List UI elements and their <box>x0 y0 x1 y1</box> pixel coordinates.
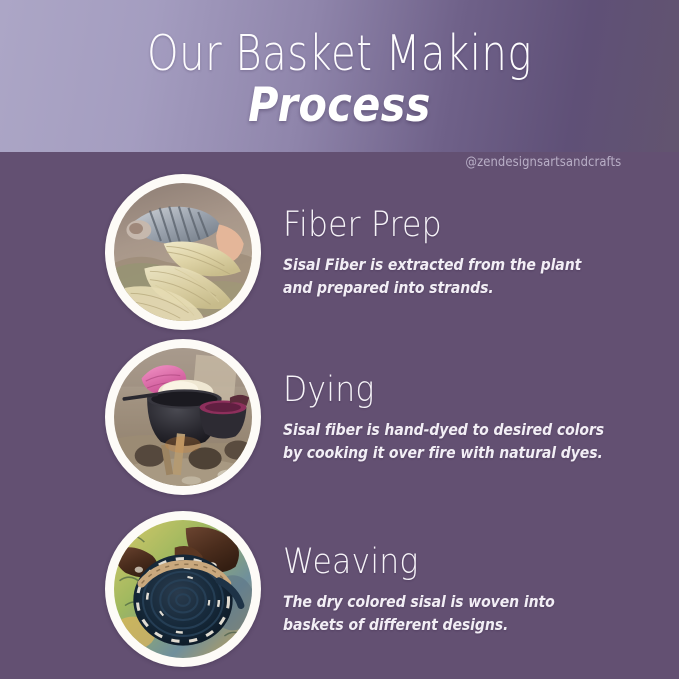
header-banner: Our Basket Making Process <box>0 0 679 152</box>
process-step-weaving: Weaving The dry colored sisal is woven i… <box>0 503 679 675</box>
step-text-1: Fiber Prep Sisal Fiber is extracted from… <box>283 205 679 300</box>
step-desc-line: and prepared into strands. <box>283 277 594 300</box>
step-image-circle-2 <box>105 339 261 495</box>
sisal-fiber-drying-photo <box>114 183 252 321</box>
step-title-weaving: Weaving <box>283 542 594 582</box>
step-desc-line: Sisal fiber is hand-dyed to desired colo… <box>283 419 604 442</box>
hands-weaving-basket-photo <box>114 520 252 658</box>
step-desc-line: baskets of different designs. <box>283 614 594 637</box>
page-title-line2: Process <box>41 80 639 132</box>
poster-canvas: Our Basket Making Process @zendesignsart… <box>0 0 679 679</box>
step-text-3: Weaving The dry colored sisal is woven i… <box>283 542 679 637</box>
step-image-circle-1 <box>105 174 261 330</box>
step-image-circle-3 <box>105 511 261 667</box>
step-description-fiber-prep: Sisal Fiber is extracted from the plant … <box>283 254 594 300</box>
step-description-dying: Sisal fiber is hand-dyed to desired colo… <box>283 419 604 465</box>
dyeing-pot-over-fire-photo <box>114 348 252 486</box>
step-desc-line: Sisal Fiber is extracted from the plant <box>283 254 594 277</box>
step-title-dying: Dying <box>283 370 604 410</box>
step-title-fiber-prep: Fiber Prep <box>283 205 594 245</box>
process-step-fiber-prep: Fiber Prep Sisal Fiber is extracted from… <box>0 166 679 338</box>
step-desc-line: The dry colored sisal is woven into <box>283 591 594 614</box>
step-description-weaving: The dry colored sisal is woven into bask… <box>283 591 594 637</box>
process-step-dying: Dying Sisal fiber is hand-dyed to desire… <box>0 331 679 503</box>
step-text-2: Dying Sisal fiber is hand-dyed to desire… <box>283 370 679 465</box>
page-title-line1: Our Basket Making <box>61 28 618 80</box>
step-desc-line: by cooking it over fire with natural dye… <box>283 442 604 465</box>
